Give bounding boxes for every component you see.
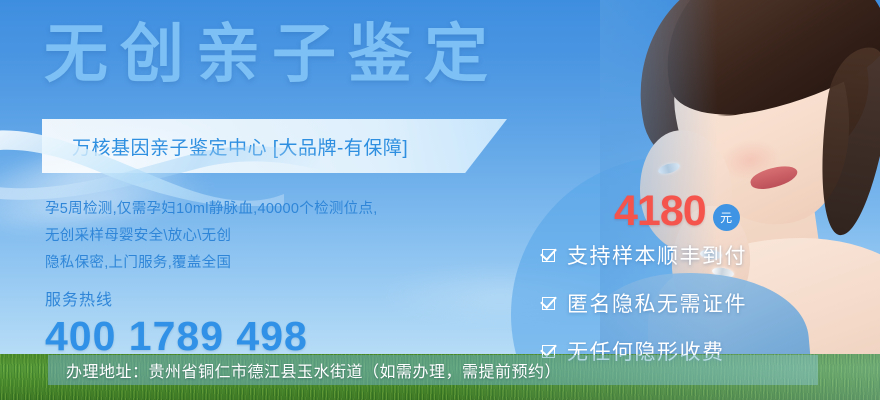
feature-item: 支持样本顺丰到付 [542, 240, 747, 270]
price-unit-badge: 元 [713, 204, 740, 231]
promo-banner: 无创亲子鉴定 万核基因亲子鉴定中心 [大品牌-有保障] 孕5周检测,仅需孕妇10… [0, 0, 880, 400]
checkmark-icon [542, 249, 555, 262]
address-bar: 办理地址：贵州省铜仁市德江县玉水街道（如需办理，需提前预约） [48, 355, 818, 385]
brand-banner: 万核基因亲子鉴定中心 [大品牌-有保障] [42, 119, 507, 173]
address-text: 办理地址：贵州省铜仁市德江县玉水街道（如需办理，需提前预约） [66, 358, 561, 382]
page-title: 无创亲子鉴定 [44, 14, 500, 94]
hotline-label: 服务热线 [45, 286, 378, 310]
checkmark-icon [542, 297, 555, 310]
marketing-copy-block: 孕5周检测,仅需孕妇10ml静脉血,40000个检测位点, 无创采样母婴安全\放… [45, 196, 378, 310]
brand-banner-label: 万核基因亲子鉴定中心 [大品牌-有保障] [72, 133, 408, 160]
copy-line: 孕5周检测,仅需孕妇10ml静脉血,40000个检测位点, [45, 196, 378, 223]
feature-label: 匿名隐私无需证件 [567, 288, 747, 318]
hotline-number[interactable]: 400 1789 498 [45, 313, 308, 360]
price-value: 4180 [614, 190, 706, 233]
copy-line: 无创采样母婴安全\放心\无创 [45, 223, 378, 250]
copy-line: 隐私保密,上门服务,覆盖全国 [45, 250, 378, 277]
feature-item: 匿名隐私无需证件 [542, 288, 747, 318]
feature-label: 支持样本顺丰到付 [567, 240, 747, 270]
price-block: 4180 元 [614, 190, 740, 233]
